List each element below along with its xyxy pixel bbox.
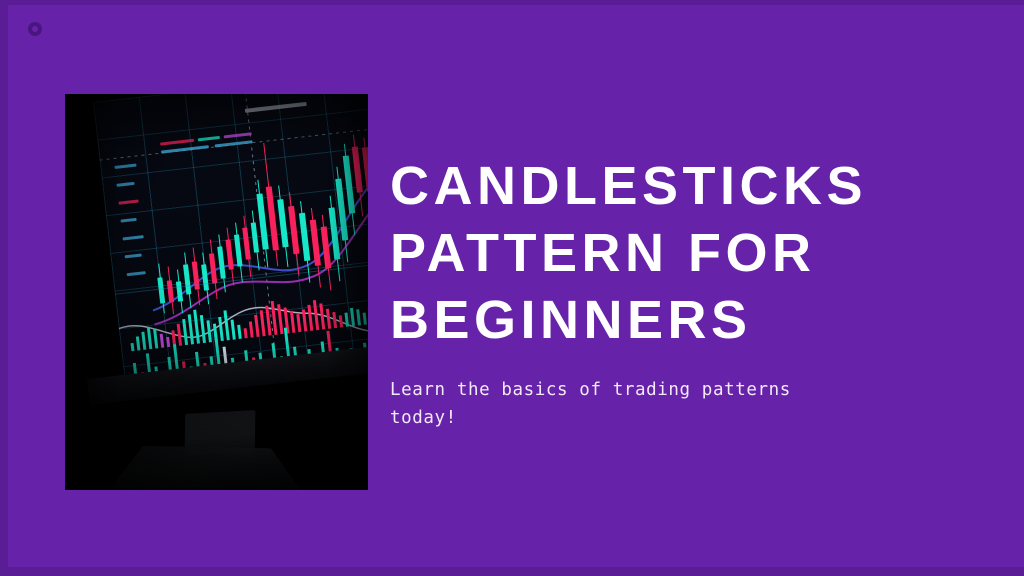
hero-photo: [65, 94, 368, 490]
slide-canvas: CANDLESTICKS PATTERN FOR BEGINNERS Learn…: [0, 0, 1024, 576]
slide-background: CANDLESTICKS PATTERN FOR BEGINNERS Learn…: [8, 5, 1024, 567]
photo-inner: [65, 94, 368, 490]
text-column: CANDLESTICKS PATTERN FOR BEGINNERS Learn…: [390, 153, 990, 432]
subtitle-text: Learn the basics of trading patterns tod…: [390, 376, 830, 432]
page-title-line-2: PATTERN FOR: [390, 220, 990, 287]
circle-outline-icon: [28, 22, 42, 36]
page-title-line-1: CANDLESTICKS: [390, 153, 990, 220]
page-title-line-3: BEGINNERS: [390, 287, 990, 354]
monitor-stand-base: [107, 446, 307, 490]
monitor-screen: [93, 94, 368, 390]
